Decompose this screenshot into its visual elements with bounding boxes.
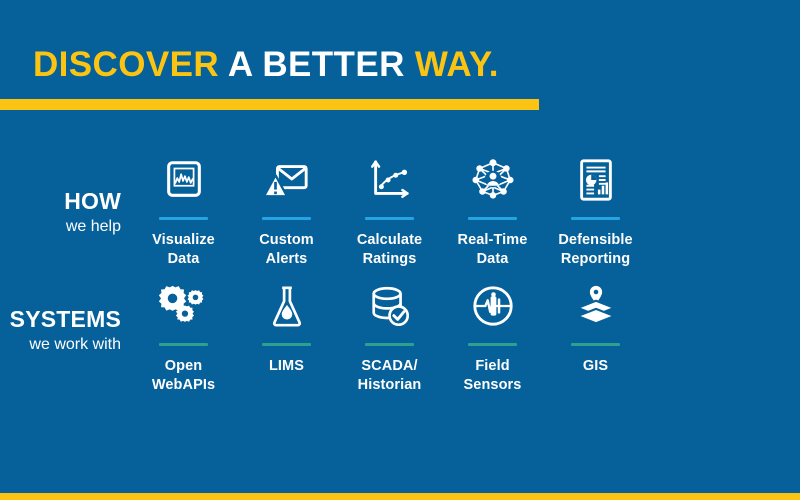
card-divider: [365, 343, 414, 346]
row-how-subtitle: we help: [0, 215, 121, 239]
row-how-title: HOW: [0, 188, 121, 215]
chart-monitor-icon: [132, 152, 235, 208]
page-title: DISCOVER A BETTER WAY.: [33, 47, 499, 82]
title-segment-discover: DISCOVER: [33, 45, 228, 84]
card-label: Calculate Ratings: [338, 231, 441, 270]
card-divider: [571, 343, 620, 346]
database-check-icon: [338, 278, 441, 334]
card-calculate-ratings[interactable]: Calculate Ratings: [338, 152, 441, 270]
card-divider: [262, 343, 311, 346]
card-label: GIS: [544, 357, 647, 376]
card-divider: [468, 217, 517, 220]
report-document-icon: [544, 152, 647, 208]
card-scada-historian[interactable]: SCADA/ Historian: [338, 278, 441, 396]
card-label: Real-Time Data: [441, 231, 544, 270]
card-visualize-data[interactable]: Visualize Data: [132, 152, 235, 270]
card-label: Custom Alerts: [235, 231, 338, 270]
row-systems-subtitle: we work with: [0, 333, 121, 357]
title-underline-bar: [0, 99, 539, 110]
row-label-how: HOW we help: [0, 152, 125, 239]
row-how-cards: Visualize Data Custom Alerts: [125, 152, 800, 270]
card-label: Open WebAPIs: [132, 357, 235, 396]
title-segment-a-better: A BETTER: [228, 45, 415, 84]
card-real-time-data[interactable]: Real-Time Data: [441, 152, 544, 270]
card-divider: [468, 343, 517, 346]
row-systems-title: SYSTEMS: [0, 306, 121, 333]
sensor-circle-icon: [441, 278, 544, 334]
row-label-systems: SYSTEMS we work with: [0, 278, 125, 357]
flask-icon: [235, 278, 338, 334]
title-segment-way: WAY.: [415, 45, 499, 84]
card-divider: [262, 217, 311, 220]
envelope-alert-icon: [235, 152, 338, 208]
card-label: Field Sensors: [441, 357, 544, 396]
card-divider: [159, 217, 208, 220]
card-divider: [159, 343, 208, 346]
card-open-webapis[interactable]: Open WebAPIs: [132, 278, 235, 396]
card-label: LIMS: [235, 357, 338, 376]
axis-trend-icon: [338, 152, 441, 208]
card-divider: [571, 217, 620, 220]
row-systems: SYSTEMS we work with: [0, 278, 800, 396]
map-layers-pin-icon: [544, 278, 647, 334]
card-gis[interactable]: GIS: [544, 278, 647, 396]
card-field-sensors[interactable]: Field Sensors: [441, 278, 544, 396]
row-how: HOW we help Visualize Data: [0, 152, 800, 270]
row-systems-cards: Open WebAPIs LIMS: [125, 278, 800, 396]
card-lims[interactable]: LIMS: [235, 278, 338, 396]
card-label: Defensible Reporting: [544, 231, 647, 270]
network-user-icon: [441, 152, 544, 208]
slide-header: DISCOVER A BETTER WAY.: [0, 0, 800, 118]
card-label: Visualize Data: [132, 231, 235, 270]
card-custom-alerts[interactable]: Custom Alerts: [235, 152, 338, 270]
card-label: SCADA/ Historian: [338, 357, 441, 396]
card-defensible-reporting[interactable]: Defensible Reporting: [544, 152, 647, 270]
footer-accent-bar: [0, 493, 800, 500]
gears-icon: [132, 278, 235, 334]
card-divider: [365, 217, 414, 220]
